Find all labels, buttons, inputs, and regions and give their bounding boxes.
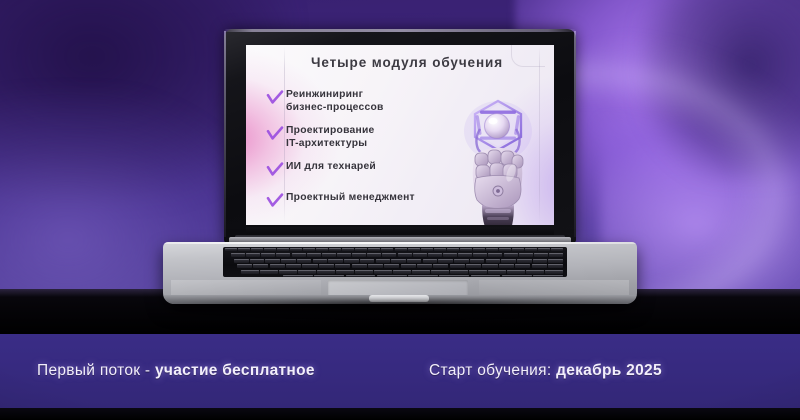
list-item-line-2: IT-архитектуры: [286, 138, 367, 149]
keyboard-key: [297, 259, 312, 263]
keyboard-key: [486, 248, 498, 251]
keyboard-key: [355, 248, 367, 251]
keyboard-key: [253, 264, 268, 268]
keyboard-key: [407, 259, 422, 263]
keyboard-key: [384, 264, 399, 268]
keyboard-key: [393, 270, 411, 274]
keyboard-key: [533, 259, 548, 263]
keyboard-key: [534, 253, 548, 257]
keyboard-key: [433, 264, 448, 268]
keyboard-key: [314, 275, 344, 278]
keyboard-key: [264, 248, 276, 251]
keyboard-key: [428, 253, 442, 257]
keyboard-key: [488, 253, 502, 257]
keyboard-key: [261, 253, 275, 257]
keyboard-key: [376, 259, 391, 263]
keyboard-key: [517, 259, 532, 263]
keyboard-key: [548, 264, 563, 268]
keyboard-key: [450, 264, 465, 268]
laptop-keyboard: [223, 247, 567, 277]
list-item: ИИ для технарей: [266, 161, 480, 178]
keyboard-key: [265, 259, 280, 263]
list-item: Проектный менеджмент: [266, 192, 480, 209]
list-item-label: Проектирование IT-архитектуры: [286, 125, 375, 150]
keyboard-key: [377, 275, 407, 278]
keyboard-key: [486, 259, 501, 263]
keyboard-key: [532, 264, 547, 268]
keyboard-keys: [223, 247, 567, 277]
keyboard-key: [346, 275, 376, 278]
list-item: Реинжиниринг бизнес-процессов: [266, 89, 480, 114]
slide-bullet-list: Реинжиниринг бизнес-процессов Проектиров…: [266, 89, 480, 209]
keyboard-key: [374, 270, 392, 274]
keyboard-key: [234, 259, 249, 263]
keyboard-key: [423, 259, 438, 263]
keyboard-key: [413, 253, 427, 257]
list-item-label: ИИ для технарей: [286, 161, 376, 174]
keyboard-key: [251, 248, 263, 251]
laptop-lid: Четыре модуля обучения Реинжиниринг бизн…: [224, 29, 576, 243]
banner-right-text: Старт обучения: декабрь 2025: [429, 334, 662, 408]
keyboard-key: [290, 248, 302, 251]
keyboard-key: [431, 270, 449, 274]
keyboard-key: [335, 264, 350, 268]
keyboard-key: [298, 270, 316, 274]
list-item-line-1: Реинжиниринг: [286, 89, 363, 100]
keyboard-key: [438, 259, 453, 263]
keyboard-key: [283, 275, 313, 278]
lid-left-edge: [224, 31, 226, 237]
keyboard-key: [412, 270, 430, 274]
keyboard-key: [502, 275, 532, 278]
keyboard-key: [250, 259, 265, 263]
keyboard-key: [344, 259, 359, 263]
list-item-line-1: Проектирование: [286, 125, 375, 136]
keyboard-key: [225, 248, 237, 251]
banner-right-emphasis: декабрь 2025: [556, 362, 662, 379]
keyboard-key: [408, 275, 438, 278]
keyboard-key: [355, 270, 373, 274]
keyboard-key: [470, 259, 485, 263]
keyboard-key: [549, 253, 563, 257]
keyboard-key: [342, 248, 354, 251]
keyboard-key: [401, 264, 416, 268]
keyboard-key: [525, 248, 537, 251]
keyboard-key: [241, 270, 259, 274]
laptop-screen: Четыре модуля обучения Реинжиниринг бизн…: [246, 45, 554, 225]
robot-hand-holding-hexagon-icon: [455, 85, 541, 225]
keyboard-key: [260, 270, 278, 274]
laptop-drop-shadow: [173, 301, 627, 315]
lid-top-highlight: [224, 29, 576, 32]
keyboard-key: [382, 253, 396, 257]
keyboard-key: [471, 275, 501, 278]
keyboard-key: [499, 264, 514, 268]
keyboard-key: [551, 248, 563, 251]
keyboard-key: [279, 270, 297, 274]
keyboard-key: [501, 259, 516, 263]
list-item-line-2: бизнес-процессов: [286, 102, 384, 113]
keyboard-key: [286, 264, 301, 268]
keyboard-key: [231, 253, 245, 257]
keyboard-key: [499, 248, 511, 251]
list-item-label: Проектный менеджмент: [286, 192, 415, 205]
keyboard-key: [302, 264, 317, 268]
keyboard-key: [447, 248, 459, 251]
keyboard-key: [237, 264, 252, 268]
keyboard-key: [395, 248, 407, 251]
banner-left-lead: Первый поток -: [37, 362, 155, 379]
keyboard-key: [434, 248, 446, 251]
keyboard-key: [360, 259, 375, 263]
keyboard-key: [488, 270, 506, 274]
keyboard-key: [381, 248, 393, 251]
keyboard-key: [281, 259, 296, 263]
keyboard-key: [246, 253, 260, 257]
keyboard-key: [421, 248, 433, 251]
keyboard-key: [317, 270, 335, 274]
keyboard-key: [398, 253, 412, 257]
keyboard-key: [292, 253, 306, 257]
keyboard-key: [316, 248, 328, 251]
keyboard-key: [337, 253, 351, 257]
keyboard-key: [367, 253, 381, 257]
keyboard-key: [454, 259, 469, 263]
keyboard-key: [238, 248, 250, 251]
keyboard-key: [519, 253, 533, 257]
keyboard-key: [276, 253, 290, 257]
keyboard-key: [408, 248, 420, 251]
banner-left-text: Первый поток - участие бесплатное: [37, 334, 315, 408]
promo-banner-image: Четыре модуля обучения Реинжиниринг бизн…: [0, 0, 800, 420]
image-bottom-edge: [0, 408, 800, 420]
keyboard-key: [512, 248, 524, 251]
keyboard-key: [329, 248, 341, 251]
keyboard-key: [368, 264, 383, 268]
keyboard-key: [313, 259, 328, 263]
keyboard-key: [303, 248, 315, 251]
list-item-label: Реинжиниринг бизнес-процессов: [286, 89, 384, 114]
keyboard-key: [450, 270, 468, 274]
check-icon: [266, 126, 286, 141]
laptop-device: Четыре модуля обучения Реинжиниринг бизн…: [163, 29, 637, 317]
keyboard-key: [458, 253, 472, 257]
keyboard-key: [270, 264, 285, 268]
keyboard-key: [526, 270, 544, 274]
keyboard-key: [322, 253, 336, 257]
keyboard-key: [482, 264, 497, 268]
banner-left-emphasis: участие бесплатное: [155, 362, 315, 379]
keyboard-key: [443, 253, 457, 257]
keyboard-key: [507, 270, 525, 274]
keyboard-key: [538, 248, 550, 251]
keyboard-key: [473, 253, 487, 257]
keyboard-key: [515, 264, 530, 268]
keyboard-key: [504, 253, 518, 257]
keyboard-key: [319, 264, 334, 268]
keyboard-key: [545, 270, 563, 274]
slide-title: Четыре модуля обучения: [246, 55, 554, 70]
keyboard-key: [533, 275, 563, 278]
lid-right-edge: [574, 31, 576, 237]
keyboard-key: [548, 259, 563, 263]
keyboard-key: [469, 270, 487, 274]
base-top-highlight: [163, 242, 637, 244]
keyboard-key: [466, 264, 481, 268]
keyboard-key: [460, 248, 472, 251]
keyboard-key: [352, 264, 367, 268]
keyboard-key: [391, 259, 406, 263]
keyboard-key: [352, 253, 366, 257]
check-icon: [266, 90, 286, 105]
list-item: Проектирование IT-архитектуры: [266, 125, 480, 150]
keyboard-key: [336, 270, 354, 274]
keyboard-key: [473, 248, 485, 251]
keyboard-key: [417, 264, 432, 268]
bottom-banner: Первый поток - участие бесплатное Старт …: [0, 334, 800, 408]
keyboard-key: [307, 253, 321, 257]
check-icon: [266, 162, 286, 177]
keyboard-key: [439, 275, 469, 278]
keyboard-key: [368, 248, 380, 251]
keyboard-key: [277, 248, 289, 251]
keyboard-key: [328, 259, 343, 263]
laptop-base: [163, 242, 637, 304]
check-icon: [266, 193, 286, 208]
banner-right-lead: Старт обучения:: [429, 362, 556, 379]
